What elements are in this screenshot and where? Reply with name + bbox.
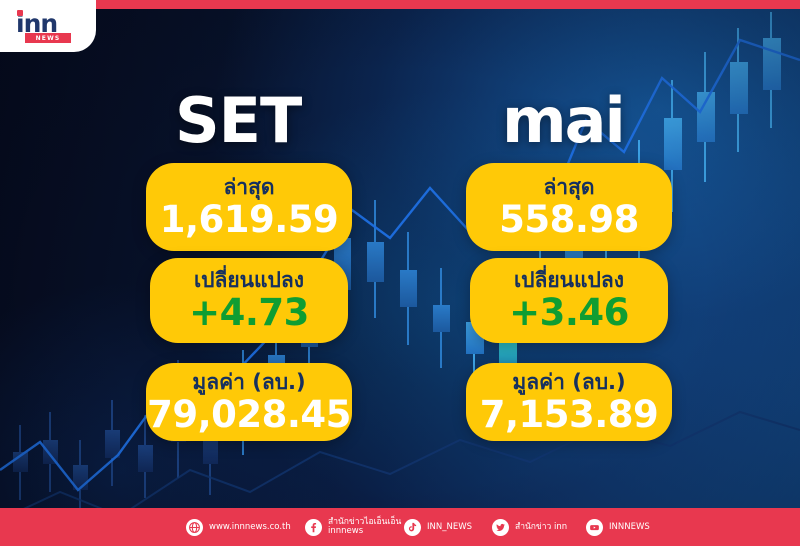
set-turnover-value: 79,028.45 [147,395,351,435]
tiktok-icon [404,519,421,536]
social-footer-bar: www.innnews.co.th สำนักข่าวไอเอ็นเอ็น in… [0,508,800,546]
top-accent-bar [0,0,800,9]
mai-change-value: +3.46 [509,293,629,333]
logo-news-badge-label: NEWS [36,35,61,42]
mai-turnover-label: มูลค่า (ลบ.) [512,370,625,394]
logo-news-badge: NEWS [25,33,71,43]
infographic-canvas: inn NEWS SET ล่าสุด 1,619.59 เปลี่ยนแปลง… [0,0,800,546]
set-change-label: เปลี่ยนแปลง [194,268,304,292]
set-change-value: +4.73 [189,293,309,333]
twitter-icon [492,519,509,536]
set-turnover-label: มูลค่า (ลบ.) [192,370,305,394]
index-title-mai: mai [502,90,624,152]
background-vignette [0,0,800,546]
mai-turnover-value: 7,153.89 [480,395,659,435]
set-turnover-card: มูลค่า (ลบ.) 79,028.45 [146,363,352,441]
footer-tiktok-label: INN_NEWS [427,522,472,532]
footer-website[interactable]: www.innnews.co.th [186,519,291,536]
footer-facebook-line2: innnews [328,527,401,537]
facebook-icon [305,519,322,536]
globe-icon [186,519,203,536]
mai-last-card: ล่าสุด 558.98 [466,163,672,251]
set-last-label: ล่าสุด [223,175,274,199]
logo-dot-icon [17,10,23,16]
footer-facebook[interactable]: สำนักข่าวไอเอ็นเอ็น innnews [305,518,401,537]
footer-twitter-label: สำนักข่าว inn [515,522,567,532]
footer-youtube[interactable]: INNNEWS [586,519,650,536]
mai-last-label: ล่าสุด [543,175,594,199]
footer-tiktok[interactable]: INN_NEWS [404,519,472,536]
index-title-set: SET [175,90,301,152]
set-last-card: ล่าสุด 1,619.59 [146,163,352,251]
footer-youtube-label: INNNEWS [609,522,650,532]
inn-news-logo: inn NEWS [0,0,96,52]
footer-twitter[interactable]: สำนักข่าว inn [492,519,567,536]
mai-change-label: เปลี่ยนแปลง [514,268,624,292]
set-change-card: เปลี่ยนแปลง +4.73 [150,258,348,343]
youtube-icon [586,519,603,536]
mai-change-card: เปลี่ยนแปลง +3.46 [470,258,668,343]
set-last-value: 1,619.59 [160,200,339,240]
mai-last-value: 558.98 [499,200,639,240]
footer-website-label: www.innnews.co.th [209,522,291,532]
footer-facebook-labels: สำนักข่าวไอเอ็นเอ็น innnews [328,518,401,537]
mai-turnover-card: มูลค่า (ลบ.) 7,153.89 [466,363,672,441]
